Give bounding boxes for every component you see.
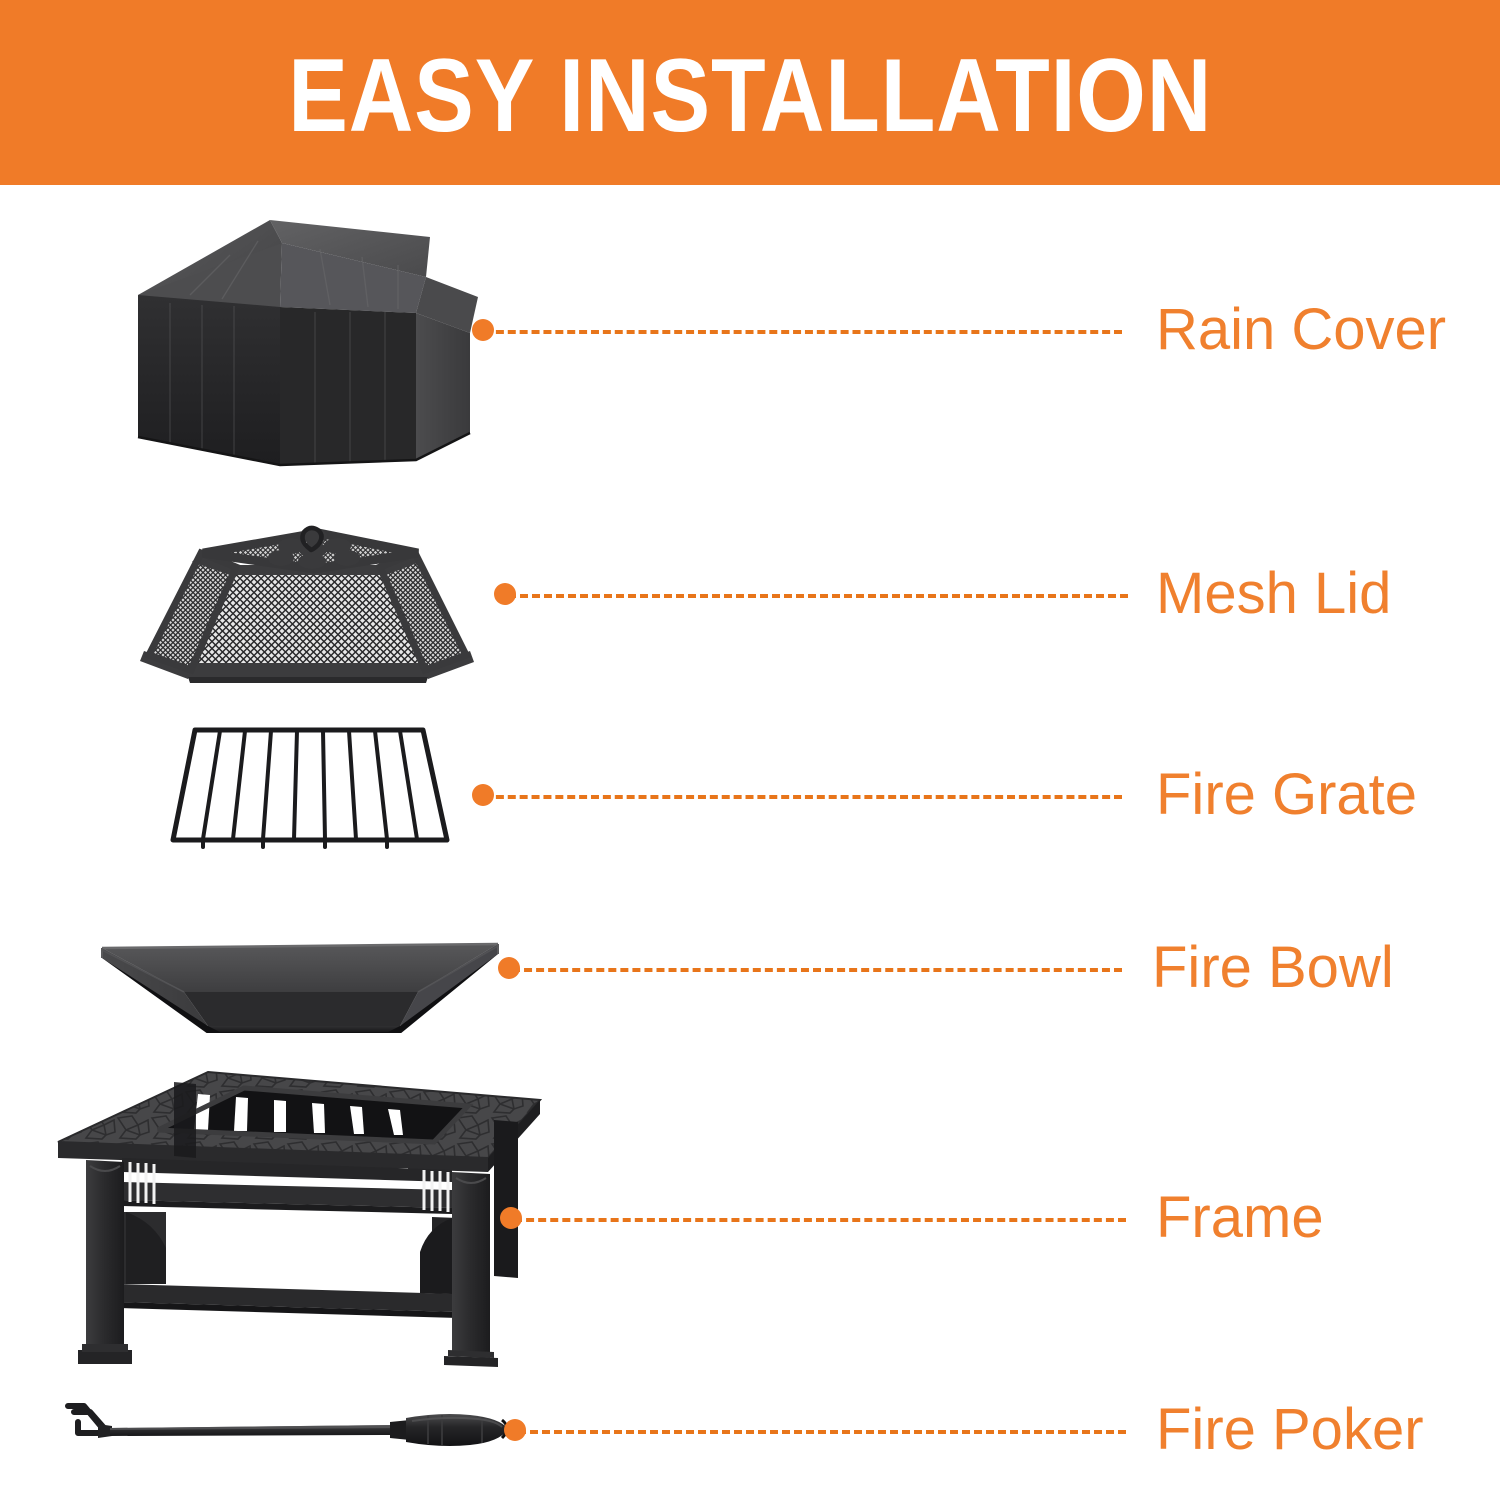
leader-line-mesh-lid xyxy=(508,594,1128,598)
leader-line-frame xyxy=(514,1218,1126,1222)
callout-label-rain-cover: Rain Cover xyxy=(1156,301,1446,359)
callout-label-mesh-lid: Mesh Lid xyxy=(1156,565,1391,623)
fire-bowl-illustration xyxy=(88,888,513,1033)
leader-line-fire-bowl xyxy=(512,968,1122,972)
leader-line-fire-grate xyxy=(484,795,1122,799)
leader-dot-frame xyxy=(500,1207,522,1229)
leader-line-fire-poker xyxy=(518,1430,1126,1434)
leader-dot-fire-grate xyxy=(472,784,494,806)
frame-illustration xyxy=(48,1062,558,1367)
callout-label-fire-poker: Fire Poker xyxy=(1156,1401,1424,1459)
callout-label-fire-grate: Fire Grate xyxy=(1156,766,1417,824)
rain-cover-illustration xyxy=(130,215,490,480)
header-banner: EASY INSTALLATION xyxy=(0,0,1500,185)
leader-dot-mesh-lid xyxy=(494,583,516,605)
infographic-page: EASY INSTALLATION xyxy=(0,0,1500,1500)
fire-poker-illustration xyxy=(38,1392,518,1472)
callout-label-frame: Frame xyxy=(1156,1189,1324,1247)
mesh-lid-illustration xyxy=(128,505,488,695)
leader-dot-fire-poker xyxy=(504,1419,526,1441)
page-title: EASY INSTALLATION xyxy=(288,44,1212,148)
fire-grate-illustration xyxy=(165,722,455,850)
leader-line-rain-cover xyxy=(484,330,1122,334)
callout-label-fire-bowl: Fire Bowl xyxy=(1152,939,1394,997)
leader-dot-fire-bowl xyxy=(498,957,520,979)
leader-dot-rain-cover xyxy=(472,319,494,341)
